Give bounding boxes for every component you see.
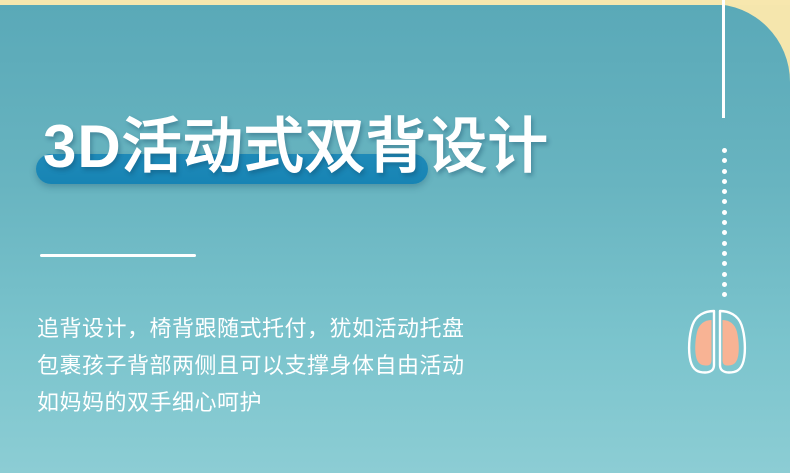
dot-icon <box>722 158 727 163</box>
dot-icon <box>722 148 727 153</box>
vertical-line-icon <box>722 0 725 118</box>
dot-icon <box>722 261 727 266</box>
dot-icon <box>722 230 727 235</box>
dot-icon <box>722 199 727 204</box>
dot-icon <box>722 220 727 225</box>
body-copy: 追背设计，椅背跟随式托付，犹如活动托盘 包裹孩子背部两侧且可以支撑身体自由活动 … <box>37 310 597 421</box>
dot-icon <box>722 169 727 174</box>
body-line-1: 追背设计，椅背跟随式托付，犹如活动托盘 <box>37 310 597 347</box>
double-back-icon <box>686 307 748 375</box>
dot-icon <box>722 210 727 215</box>
dot-icon <box>722 282 727 287</box>
title-block: 3D活动式双背设计 <box>36 104 636 196</box>
body-line-3: 如妈妈的双手细心呵护 <box>37 384 597 421</box>
dot-icon <box>722 189 727 194</box>
dotted-line-icon <box>717 148 731 297</box>
top-cream-strip <box>0 0 790 5</box>
page-title: 3D活动式双背设计 <box>43 104 549 190</box>
dot-icon <box>722 272 727 277</box>
dot-icon <box>722 241 727 246</box>
divider-rule <box>40 254 196 257</box>
dot-icon <box>722 251 727 256</box>
dot-icon <box>722 179 727 184</box>
body-line-2: 包裹孩子背部两侧且可以支撑身体自由活动 <box>37 347 597 384</box>
promo-banner: 3D活动式双背设计 追背设计，椅背跟随式托付，犹如活动托盘 包裹孩子背部两侧且可… <box>0 0 790 473</box>
dot-icon <box>722 292 727 297</box>
